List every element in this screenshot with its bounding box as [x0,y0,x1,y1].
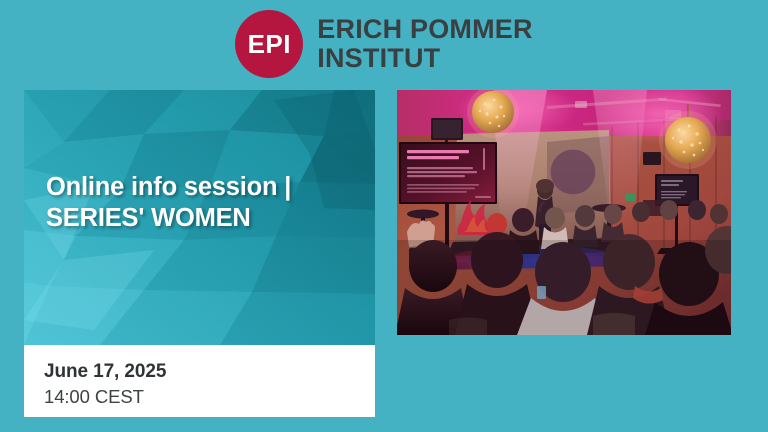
epi-logo-circle: EPI [235,10,303,78]
event-card: Online info session | SERIES' WOMEN June… [24,90,375,417]
event-photo [397,90,731,335]
event-date: June 17, 2025 [44,360,375,384]
wordmark-line-1: ERICH POMMER [317,15,532,44]
event-date-block: June 17, 2025 14:00 CEST [24,345,375,417]
brand-header: EPI ERICH POMMER INSTITUT [0,0,768,88]
event-title: Online info session | SERIES' WOMEN [46,172,366,234]
event-title-line-2: SERIES' WOMEN [46,203,366,234]
conference-photo-illustration [397,90,731,335]
event-time: 14:00 CEST [44,385,375,409]
institute-wordmark: ERICH POMMER INSTITUT [317,15,532,73]
wordmark-line-2: INSTITUT [317,44,532,73]
event-title-line-1: Online info session | [46,173,291,201]
epi-monogram: EPI [248,31,291,57]
